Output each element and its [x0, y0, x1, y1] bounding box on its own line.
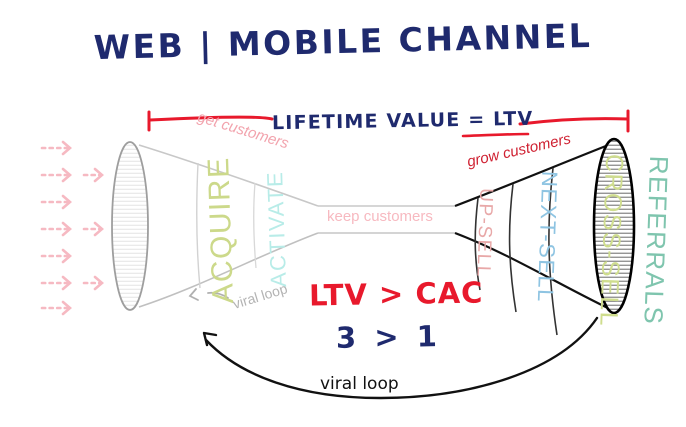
funnel-segment-up-sell: UP-SELL — [471, 188, 496, 278]
funnel-segment-referrals: REFERRALS — [637, 155, 674, 326]
keep-customers-label: keep customers — [327, 208, 433, 225]
funnel-segment-next-sell: NEXT-SELL — [532, 171, 563, 304]
funnel-segment-cross-sell: CROSS-SELL — [593, 153, 628, 327]
viral-loop-label: viral loop — [320, 374, 399, 394]
incoming-traffic-arrows — [42, 142, 102, 314]
funnel-segment-activate: ACTIVATE — [262, 170, 292, 287]
ltv-cac-ratio: 3 > 1 — [336, 319, 441, 355]
funnel-segment-acquire: ACQUIRE — [202, 156, 241, 304]
lifetime-value-label: LIFETIME VALUE = LTV — [272, 108, 534, 135]
ltv-cac-formula: LTV > CAC — [309, 275, 484, 312]
diagram-canvas: WEB | MOBILE CHANNEL LIFETIME VALUE = LT… — [0, 0, 686, 427]
